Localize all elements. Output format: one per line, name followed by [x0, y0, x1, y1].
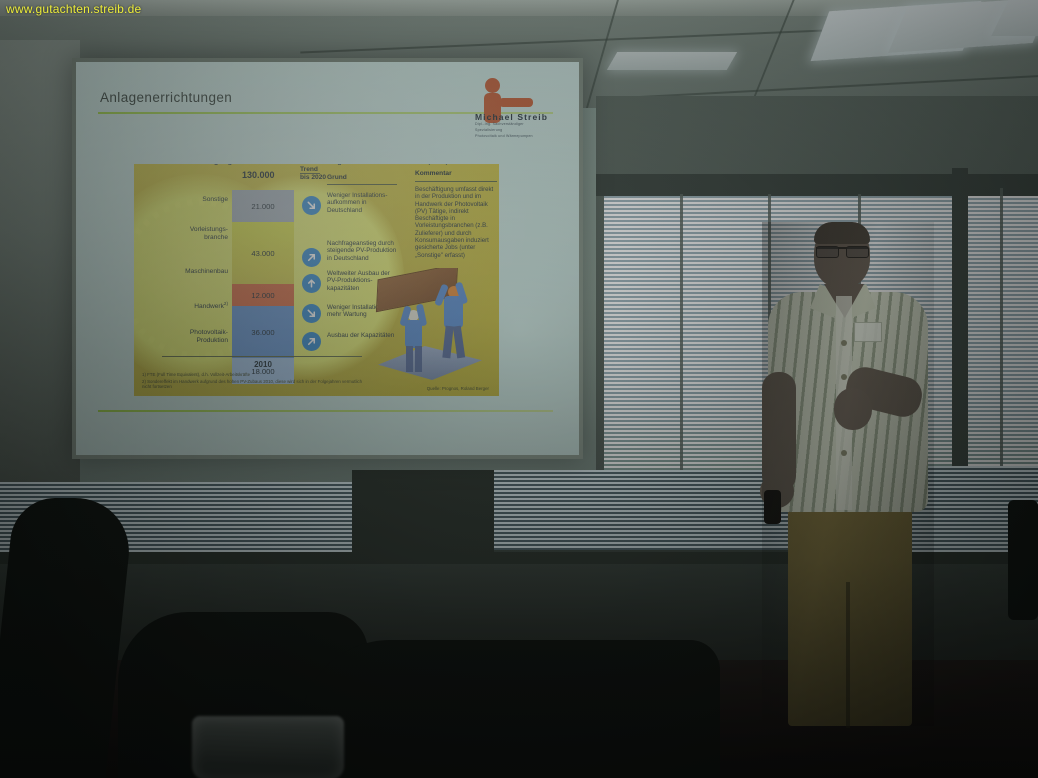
- chart-source: Quelle: Prognos, Roland Berger: [427, 386, 489, 391]
- trouser-seam: [846, 582, 850, 728]
- reason-vorleistungsbranche: Nachfrageanstieg durch steigende PV-Prod…: [327, 240, 397, 262]
- solar-installation-illustration: [372, 268, 490, 386]
- reason-sonstige: Weniger Installations-aufkommen in Deuts…: [327, 192, 397, 214]
- photo-scene: Anlagenerrichtungen Michael Streib Dipl.…: [0, 0, 1038, 778]
- presenter-trousers: [788, 504, 912, 726]
- ceiling-light-panel: [607, 52, 737, 70]
- header-rule: [300, 173, 320, 174]
- bar-segment-handwerk: 36.000: [232, 306, 294, 358]
- header-rule: [415, 181, 497, 182]
- bar-segment-sonstige: 21.000: [232, 190, 294, 222]
- category-label-vorleistungsbranche: Vorleistungs-branche: [146, 226, 228, 242]
- arrow-up-icon: [302, 274, 321, 293]
- presenter-right-hand: [834, 388, 872, 430]
- roof-shape: [378, 346, 482, 380]
- wall-column: [352, 470, 494, 562]
- comment-text: Beschäftigung umfasst direkt in der Prod…: [415, 186, 497, 259]
- footnote-2: 2) Sondereffekt im Handwerk aufgrund des…: [142, 379, 372, 390]
- column-header-comment: Kommentar: [415, 170, 452, 177]
- slide-header-title: Anlagenerrichtungen: [100, 90, 232, 105]
- company-logo: Michael Streib Dipl.-Ing. Sachverständig…: [469, 78, 567, 140]
- footer-divider: [98, 410, 553, 412]
- projection-screen: Anlagenerrichtungen Michael Streib Dipl.…: [72, 58, 583, 459]
- glasses-lens-left: [816, 246, 839, 258]
- bar-segment-vorleistungsbranche: 43.000: [232, 222, 294, 284]
- category-label-maschinenbau: Maschinenbau: [146, 268, 228, 276]
- chart-subtitle: Beschäftigung durch Photovoltaik-Technol…: [134, 164, 499, 166]
- drinking-glass: [192, 716, 344, 778]
- column-header-trend-line2: bis 2020: [300, 174, 326, 182]
- logo-arm-shape: [499, 98, 533, 107]
- logo-subline-1: Dipl.-Ing. Sachverständiger: [475, 122, 524, 127]
- logo-subline-3: Photovoltaik und Wärmepumpen: [475, 134, 533, 139]
- shirt-button: [841, 340, 847, 346]
- arrow-down-right-icon: [302, 304, 321, 323]
- arrow-up-right-icon: [302, 248, 321, 267]
- shirt-button: [841, 450, 847, 456]
- presentation-remote: [764, 490, 781, 524]
- worker-left-leg: [406, 346, 413, 372]
- shirt-pocket-badge: [854, 322, 882, 342]
- stacked-bar: 21.000 43.000 12.000 36.000 18.000: [232, 190, 294, 384]
- category-label-handwerk: Handwerk2): [146, 300, 228, 311]
- infographic-panel: 130.000 Trend bis 2020 Grund Kommentar S…: [134, 164, 499, 396]
- header-rule: [327, 184, 397, 185]
- chart-baseline: [162, 356, 362, 357]
- chart-total-label: 130.000: [242, 170, 275, 180]
- worker-left-leg: [415, 346, 422, 372]
- arrow-down-right-icon: [302, 196, 321, 215]
- category-label-sonstige: Sonstige: [146, 196, 228, 204]
- shirt-button: [841, 374, 847, 380]
- presenter-person: [762, 222, 934, 726]
- footnote-1: 1) FTE (Full Time Equivalent), d.h. Voll…: [142, 372, 250, 378]
- chart-subtitle-text: Beschäftigung durch Photovoltaik-Technol…: [180, 164, 448, 166]
- logo-name: Michael Streib: [475, 112, 548, 122]
- logo-head-shape: [485, 78, 500, 93]
- column-header-reason: Grund: [327, 174, 347, 182]
- chair-silhouette: [1008, 500, 1038, 620]
- arrow-up-right-icon: [302, 332, 321, 351]
- presentation-slide: Anlagenerrichtungen Michael Streib Dipl.…: [76, 62, 579, 455]
- presenter-hair: [814, 222, 870, 244]
- glasses-lens-right: [846, 246, 869, 258]
- window-header-beam: [596, 174, 1038, 196]
- chart-x-label-year: 2010: [232, 360, 294, 369]
- watermark-text: www.gutachten.streib.de: [6, 2, 141, 16]
- category-label-photovoltaik-produktion: Photovoltaik-Produktion: [146, 329, 228, 345]
- chair-silhouette: [300, 640, 720, 778]
- bar-segment-maschinenbau: 12.000: [232, 284, 294, 306]
- logo-subline-2: Spezialisierung: [475, 128, 502, 133]
